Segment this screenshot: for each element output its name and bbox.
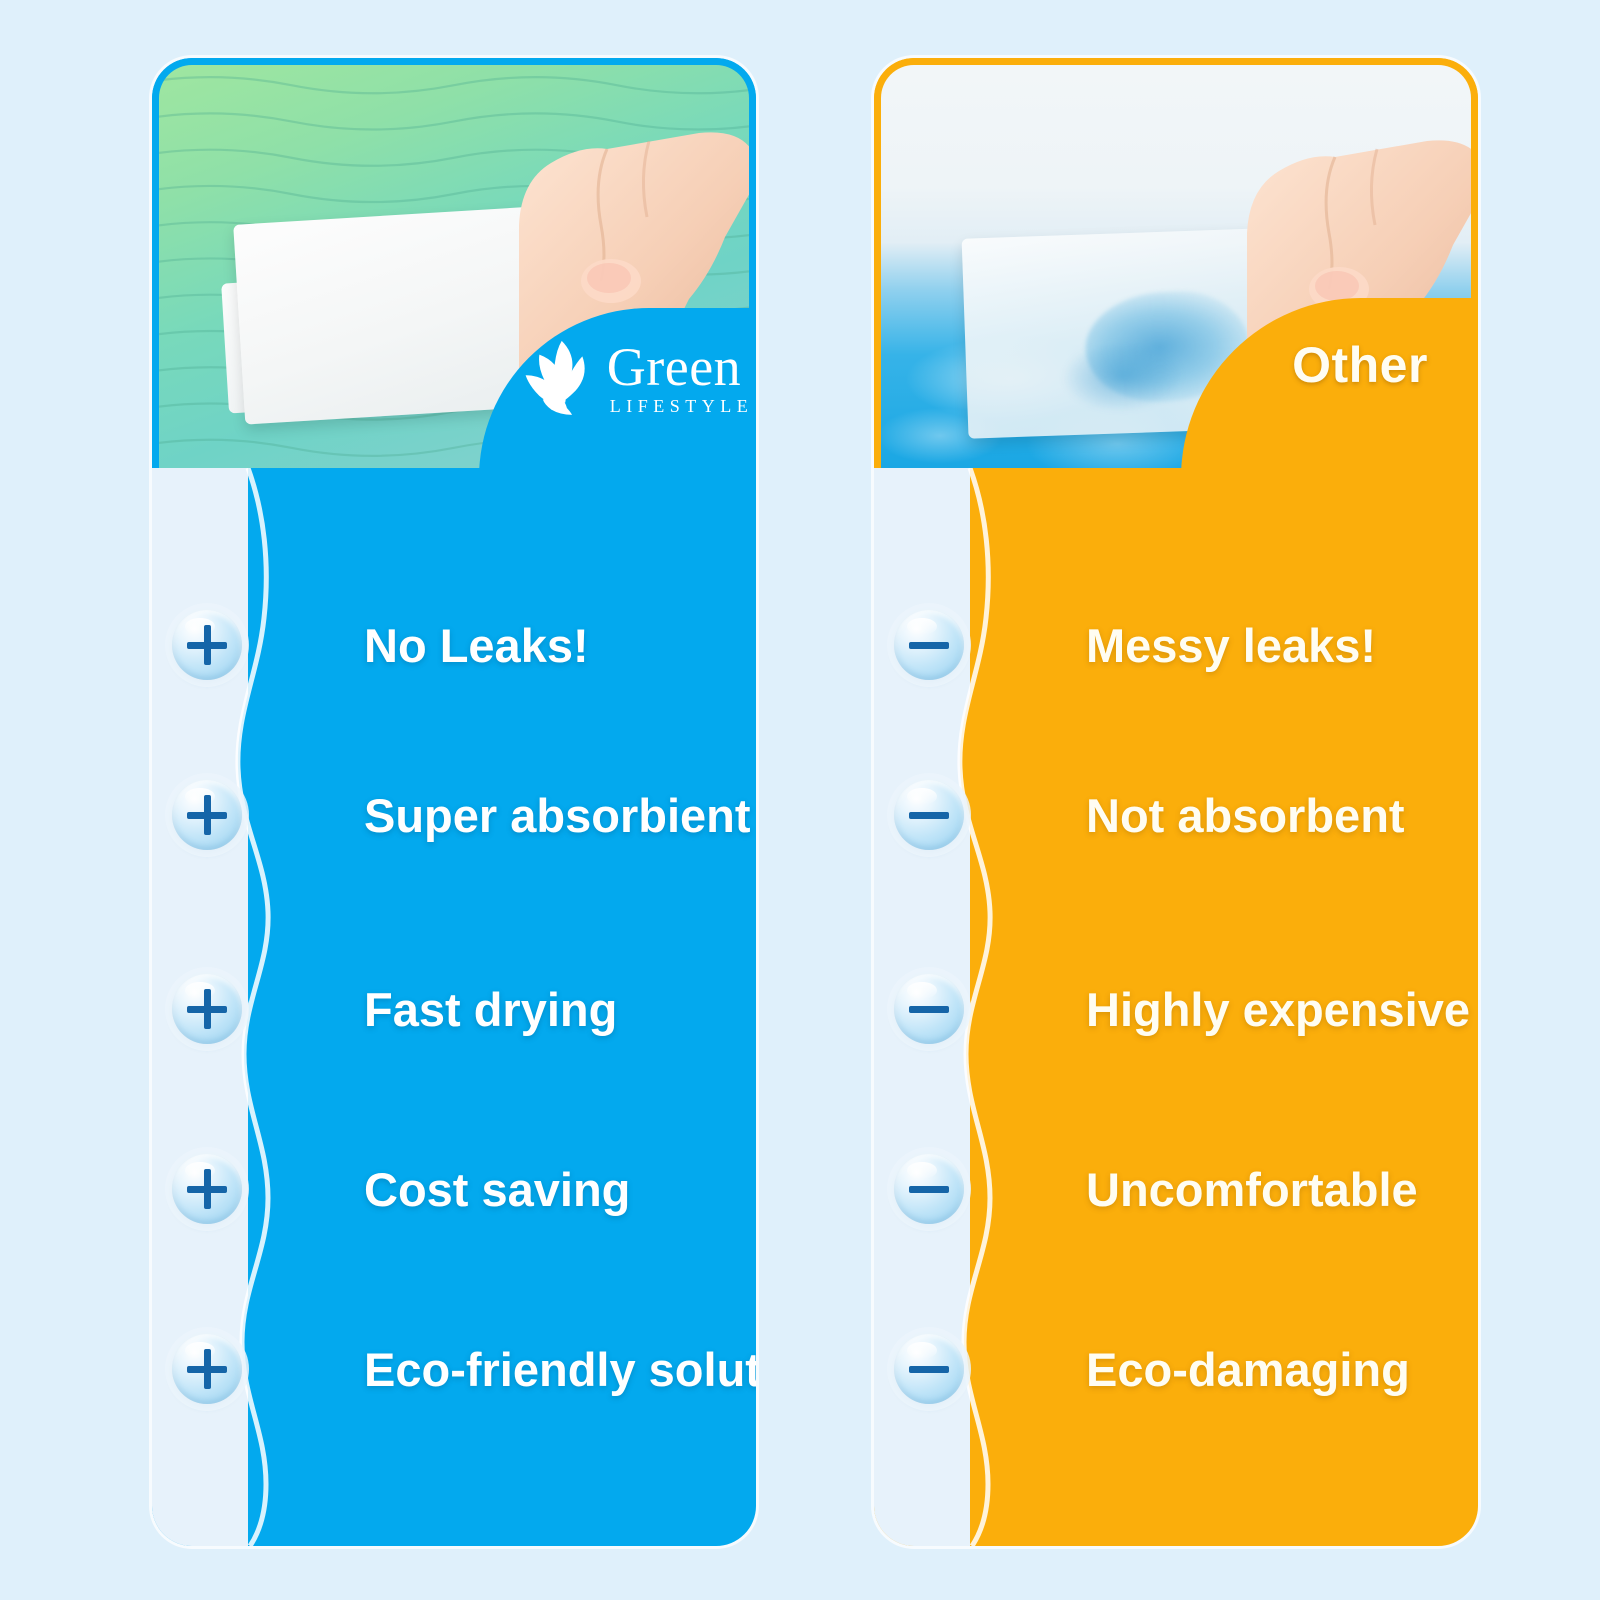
feature-row: Eco-damaging — [874, 1324, 1478, 1414]
feature-row: Fast drying — [152, 964, 756, 1054]
product-panel-green-lifestyle: Green LIFESTYLE No Leaks! Super absorbie… — [152, 58, 756, 1546]
plus-icon — [172, 1154, 242, 1224]
feature-list: No Leaks! Super absorbient Fast drying C… — [152, 468, 756, 1546]
feature-row: Cost saving — [152, 1144, 756, 1234]
minus-icon — [894, 1334, 964, 1404]
comparison-infographic: Green LIFESTYLE No Leaks! Super absorbie… — [0, 0, 1600, 1600]
brand-name: Green — [607, 340, 754, 394]
feature-row: Highly expensive — [874, 964, 1478, 1054]
other-photo-frame: Other — [874, 58, 1478, 468]
feature-label: Eco-damaging — [1086, 1346, 1410, 1393]
feature-row: Super absorbient — [152, 770, 756, 860]
feature-label: Eco-friendly solution — [364, 1346, 756, 1393]
feature-label: Super absorbient — [364, 792, 751, 839]
feature-label: No Leaks! — [364, 622, 589, 669]
plus-icon — [172, 610, 242, 680]
product-panel-other: Other Messy leaks! Not absorbent Highly … — [874, 58, 1478, 1546]
feature-row: Messy leaks! — [874, 600, 1478, 690]
feature-row: Not absorbent — [874, 770, 1478, 860]
feature-label: Messy leaks! — [1086, 622, 1376, 669]
feature-label: Cost saving — [364, 1166, 630, 1213]
feature-row: Eco-friendly solution — [152, 1324, 756, 1414]
plus-icon — [172, 974, 242, 1044]
leaf-cluster-icon — [517, 334, 603, 420]
minus-icon — [894, 780, 964, 850]
product-photo-frame: Green LIFESTYLE — [152, 58, 756, 468]
plus-icon — [172, 1334, 242, 1404]
feature-label: Uncomfortable — [1086, 1166, 1418, 1213]
minus-icon — [894, 974, 964, 1044]
feature-row: Uncomfortable — [874, 1144, 1478, 1234]
plus-icon — [172, 780, 242, 850]
minus-icon — [894, 610, 964, 680]
leak-stain-secondary — [1061, 339, 1183, 413]
feature-label: Fast drying — [364, 986, 617, 1033]
feature-label: Not absorbent — [1086, 792, 1405, 839]
feature-list: Messy leaks! Not absorbent Highly expens… — [874, 468, 1478, 1546]
minus-icon — [894, 1154, 964, 1224]
brand-tagline: LIFESTYLE — [610, 397, 754, 415]
feature-row: No Leaks! — [152, 600, 756, 690]
feature-label: Highly expensive — [1086, 986, 1470, 1033]
other-label: Other — [1292, 336, 1428, 394]
